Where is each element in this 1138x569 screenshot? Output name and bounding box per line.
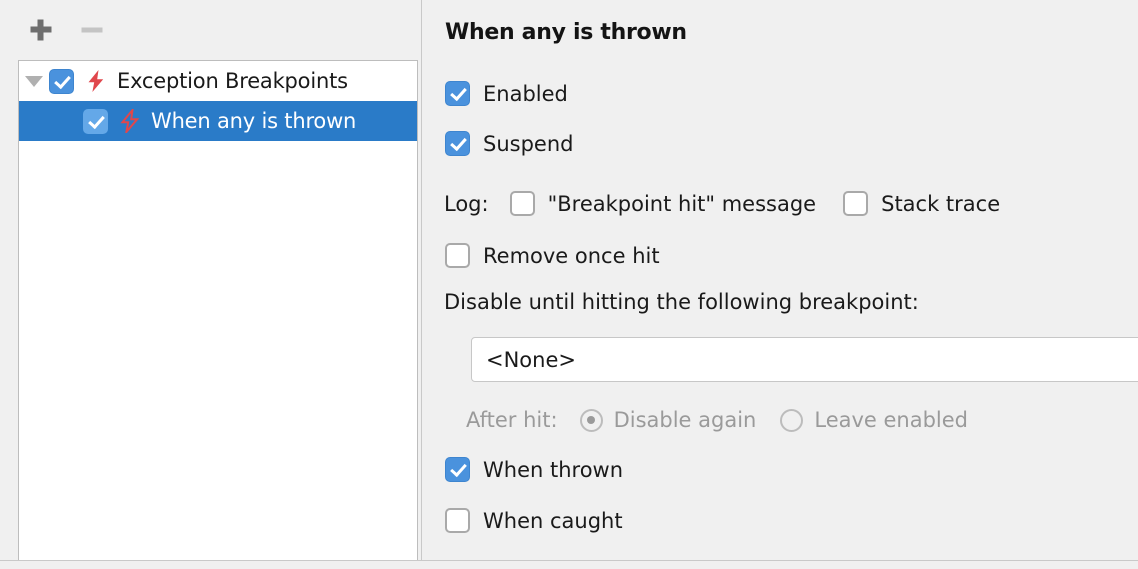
breakpoints-toolbar [18, 8, 420, 56]
tree-row-label: Exception Breakpoints [117, 69, 348, 93]
leave-enabled-label: Leave enabled [814, 408, 968, 432]
enabled-label: Enabled [483, 82, 568, 106]
breakpoint-select-value: <None> [486, 348, 576, 372]
remove-once-hit-row[interactable]: Remove once hit [445, 243, 660, 268]
tree-row-label: When any is thrown [151, 109, 356, 133]
disable-until-label: Disable until hitting the following brea… [444, 290, 919, 314]
when-thrown-row[interactable]: When thrown [445, 457, 623, 482]
when-caught-row[interactable]: When caught [445, 508, 623, 533]
when-thrown-checkbox[interactable] [445, 457, 470, 482]
when-caught-label: When caught [483, 509, 623, 533]
breakpoint-details-pane: When any is thrown Enabled Suspend Log: … [421, 0, 1138, 560]
log-label: Log: [444, 192, 489, 216]
lightning-bolt-outline-icon [117, 108, 143, 134]
disable-again-radio [580, 409, 603, 432]
log-options-row: Log: "Breakpoint hit" message Stack trac… [444, 191, 1000, 216]
minus-icon [82, 28, 103, 33]
bottom-strip [0, 561, 1138, 569]
enabled-checkbox-row[interactable]: Enabled [445, 81, 568, 106]
disable-again-label: Disable again [614, 408, 757, 432]
after-hit-label: After hit: [466, 408, 558, 432]
breakpoints-dialog: Exception Breakpoints When any is thrown… [0, 0, 1138, 569]
stack-trace-checkbox[interactable] [843, 191, 868, 216]
remove-once-hit-checkbox[interactable] [445, 243, 470, 268]
suspend-checkbox[interactable] [445, 131, 470, 156]
stack-trace-label: Stack trace [881, 192, 1000, 216]
suspend-label: Suspend [483, 132, 573, 156]
tree-row-checkbox[interactable] [83, 109, 108, 134]
lightning-bolt-icon [83, 68, 109, 94]
tree-row-exception-breakpoints[interactable]: Exception Breakpoints [19, 61, 417, 101]
tree-row-when-any-is-thrown[interactable]: When any is thrown [19, 101, 417, 141]
chevron-down-icon [25, 76, 43, 87]
breakpoints-tree[interactable]: Exception Breakpoints When any is thrown [18, 60, 418, 560]
page-title: When any is thrown [445, 20, 687, 45]
after-hit-row: After hit: Disable again Leave enabled [466, 408, 968, 432]
enabled-checkbox[interactable] [445, 81, 470, 106]
breakpoint-hit-message-checkbox[interactable] [510, 191, 535, 216]
breakpoint-select-field[interactable]: <None> [471, 337, 1138, 382]
remove-once-hit-label: Remove once hit [483, 244, 660, 268]
add-breakpoint-button[interactable] [24, 13, 58, 47]
expand-collapse-toggle[interactable] [19, 76, 49, 87]
when-thrown-label: When thrown [483, 458, 623, 482]
plus-icon [31, 20, 52, 41]
breakpoints-list-pane: Exception Breakpoints When any is thrown [0, 0, 420, 560]
remove-breakpoint-button [75, 13, 109, 47]
tree-row-checkbox[interactable] [49, 69, 74, 94]
leave-enabled-radio [780, 409, 803, 432]
breakpoint-hit-message-label: "Breakpoint hit" message [548, 192, 817, 216]
when-caught-checkbox[interactable] [445, 508, 470, 533]
suspend-checkbox-row[interactable]: Suspend [445, 131, 573, 156]
